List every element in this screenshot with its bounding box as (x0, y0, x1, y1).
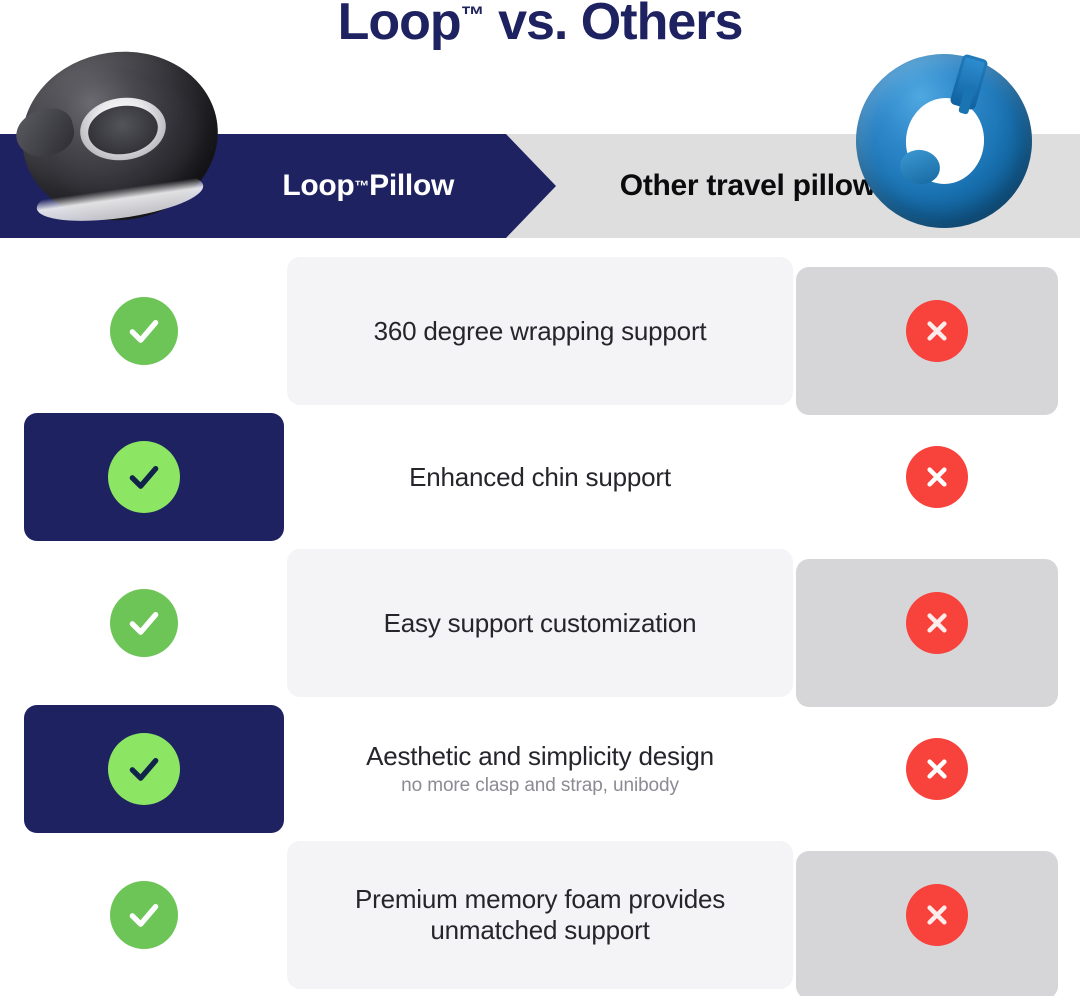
trademark-symbol: ™ (461, 2, 485, 29)
table-row: Enhanced chin support (0, 404, 1080, 550)
row-other-cell (793, 258, 1080, 404)
row-other-cell (793, 696, 1080, 842)
row-loop-cell (0, 404, 287, 550)
comparison-chart-page: Loop™ vs. Others Loop™ Pillow Other trav… (0, 0, 1080, 996)
loop-header-trademark-symbol: ™ (354, 178, 369, 195)
page-title-suffix: vs. Others (485, 0, 743, 51)
cross-circle-icon (906, 738, 968, 800)
row-feature-cell: Aesthetic and simplicity design no more … (287, 696, 793, 842)
row-other-cell (793, 404, 1080, 550)
table-row: Easy support customization (0, 550, 1080, 696)
feature-card: 360 degree wrapping support (287, 257, 793, 405)
row-loop-cell (0, 696, 287, 842)
feature-title: 360 degree wrapping support (374, 316, 707, 347)
table-row: Premium memory foam provides unmatched s… (0, 842, 1080, 988)
row-feature-cell: Premium memory foam provides unmatched s… (287, 842, 793, 988)
check-circle-icon (110, 297, 178, 365)
cross-circle-icon (906, 446, 968, 508)
check-circle-icon (108, 733, 180, 805)
row-loop-cell (0, 842, 287, 988)
feature-title: Easy support customization (384, 608, 697, 639)
feature-title: Enhanced chin support (409, 462, 671, 493)
cross-circle-icon (906, 884, 968, 946)
page-title: Loop™ vs. Others (0, 0, 1080, 48)
page-title-prefix: Loop (338, 0, 461, 51)
row-other-cell (793, 842, 1080, 988)
feature-card: Enhanced chin support (287, 403, 793, 551)
comparison-rows: 360 degree wrapping support Enhanced c (0, 258, 1080, 988)
feature-title: Aesthetic and simplicity design (366, 741, 714, 772)
row-feature-cell: 360 degree wrapping support (287, 258, 793, 404)
check-circle-icon (108, 441, 180, 513)
loop-pillow-image (22, 52, 218, 220)
loop-header-suffix: Pillow (369, 169, 454, 203)
cross-circle-icon (906, 300, 968, 362)
feature-card: Easy support customization (287, 549, 793, 697)
feature-title: Premium memory foam provides unmatched s… (313, 884, 767, 945)
other-pillow-image (856, 54, 1032, 228)
feature-card: Aesthetic and simplicity design no more … (287, 695, 793, 843)
row-loop-cell (0, 550, 287, 696)
feature-card: Premium memory foam provides unmatched s… (287, 841, 793, 989)
cross-circle-icon (906, 592, 968, 654)
feature-subtitle: no more clasp and strap, unibody (401, 775, 679, 797)
table-row: 360 degree wrapping support (0, 258, 1080, 404)
row-other-cell (793, 550, 1080, 696)
check-circle-icon (110, 881, 178, 949)
table-row: Aesthetic and simplicity design no more … (0, 696, 1080, 842)
check-circle-icon (110, 589, 178, 657)
row-loop-cell (0, 258, 287, 404)
row-feature-cell: Enhanced chin support (287, 404, 793, 550)
loop-header-prefix: Loop (282, 169, 354, 203)
row-feature-cell: Easy support customization (287, 550, 793, 696)
